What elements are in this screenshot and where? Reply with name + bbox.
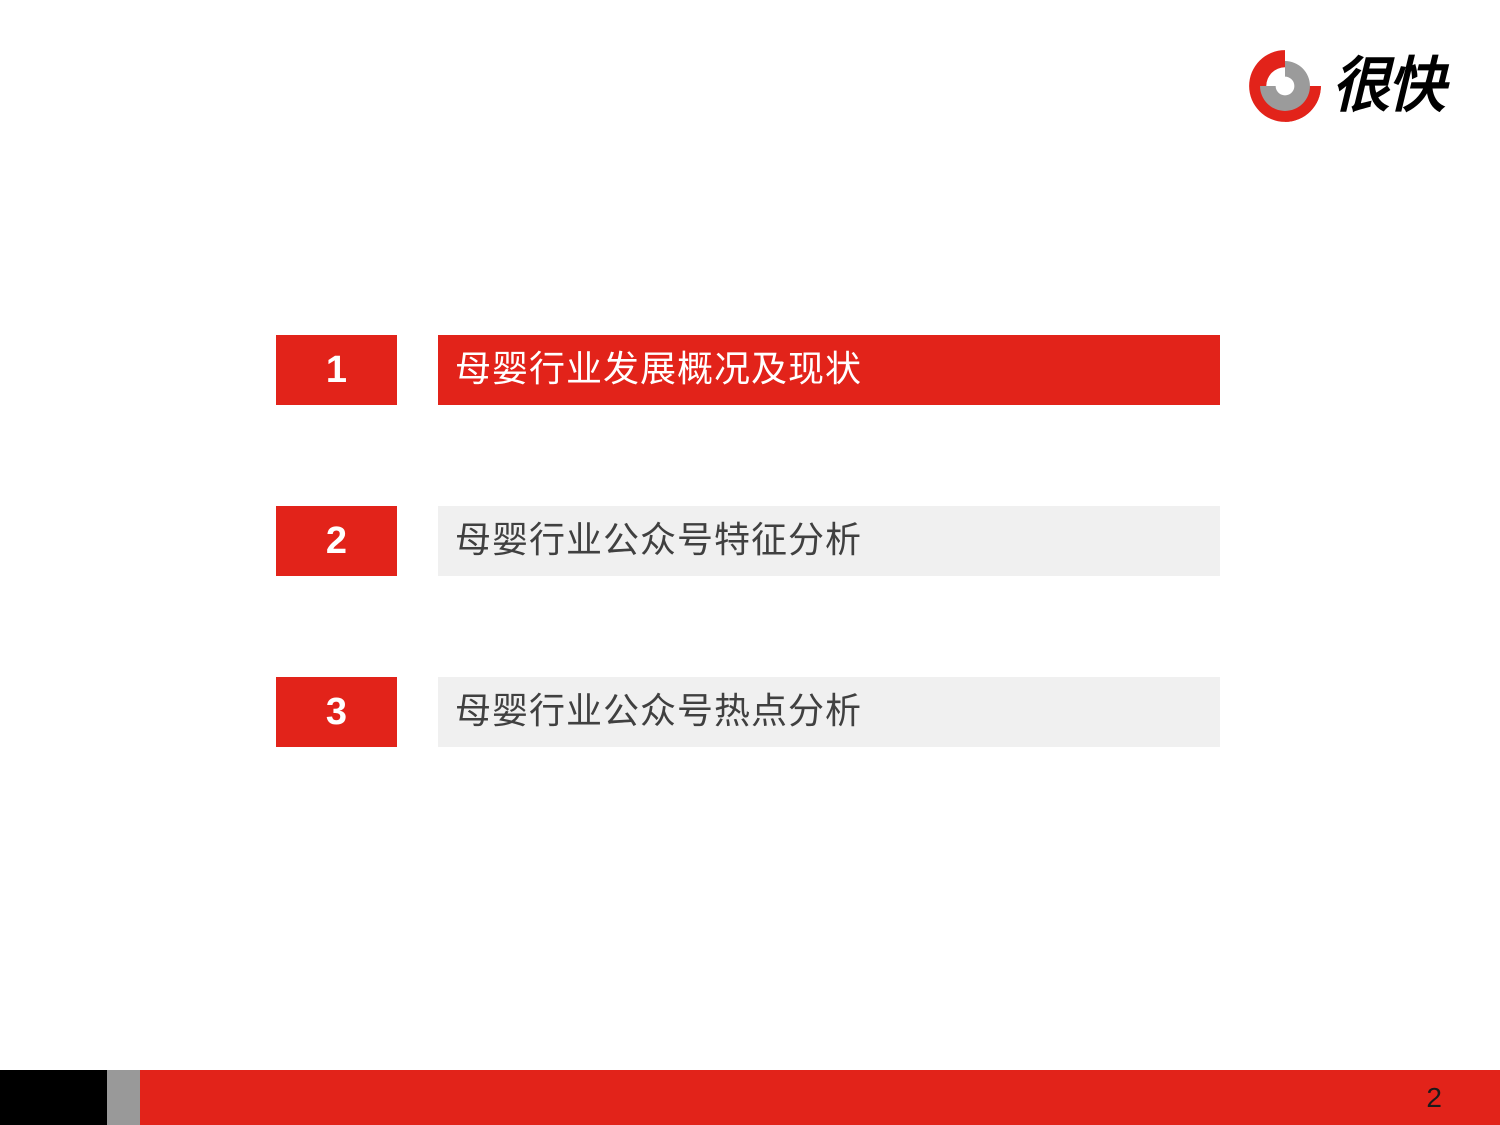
footer-segment-gray — [107, 1070, 140, 1125]
page-number: 2 — [1426, 1084, 1442, 1112]
footer-segment-red: 2 — [140, 1070, 1500, 1125]
agenda-gap-3 — [397, 677, 438, 747]
agenda-title-bar-3[interactable]: 母婴行业公众号热点分析 — [438, 677, 1220, 747]
brand-logo: 很快 — [1246, 46, 1438, 126]
slide-canvas: 很快 1 母婴行业发展概况及现状 2 母婴行业公众号特征分析 3 母婴行业公众号… — [0, 0, 1500, 1125]
brand-name-text: 很快 — [1332, 56, 1443, 116]
agenda-number-badge-1: 1 — [276, 335, 397, 405]
agenda-item-2[interactable]: 2 母婴行业公众号特征分析 — [276, 506, 1220, 576]
agenda-gap-2 — [397, 506, 438, 576]
hen-kuai-circular-logo-icon — [1246, 47, 1324, 125]
agenda-number-badge-2: 2 — [276, 506, 397, 576]
agenda-item-1[interactable]: 1 母婴行业发展概况及现状 — [276, 335, 1220, 405]
agenda-number-badge-3: 3 — [276, 677, 397, 747]
agenda-gap-1 — [397, 335, 438, 405]
agenda-title-bar-2[interactable]: 母婴行业公众号特征分析 — [438, 506, 1220, 576]
footer-bar: 2 — [0, 1070, 1500, 1125]
agenda-title-bar-1[interactable]: 母婴行业发展概况及现状 — [438, 335, 1220, 405]
footer-segment-black — [0, 1070, 107, 1125]
agenda-item-3[interactable]: 3 母婴行业公众号热点分析 — [276, 677, 1220, 747]
agenda-list: 1 母婴行业发展概况及现状 2 母婴行业公众号特征分析 3 母婴行业公众号热点分… — [276, 335, 1220, 747]
